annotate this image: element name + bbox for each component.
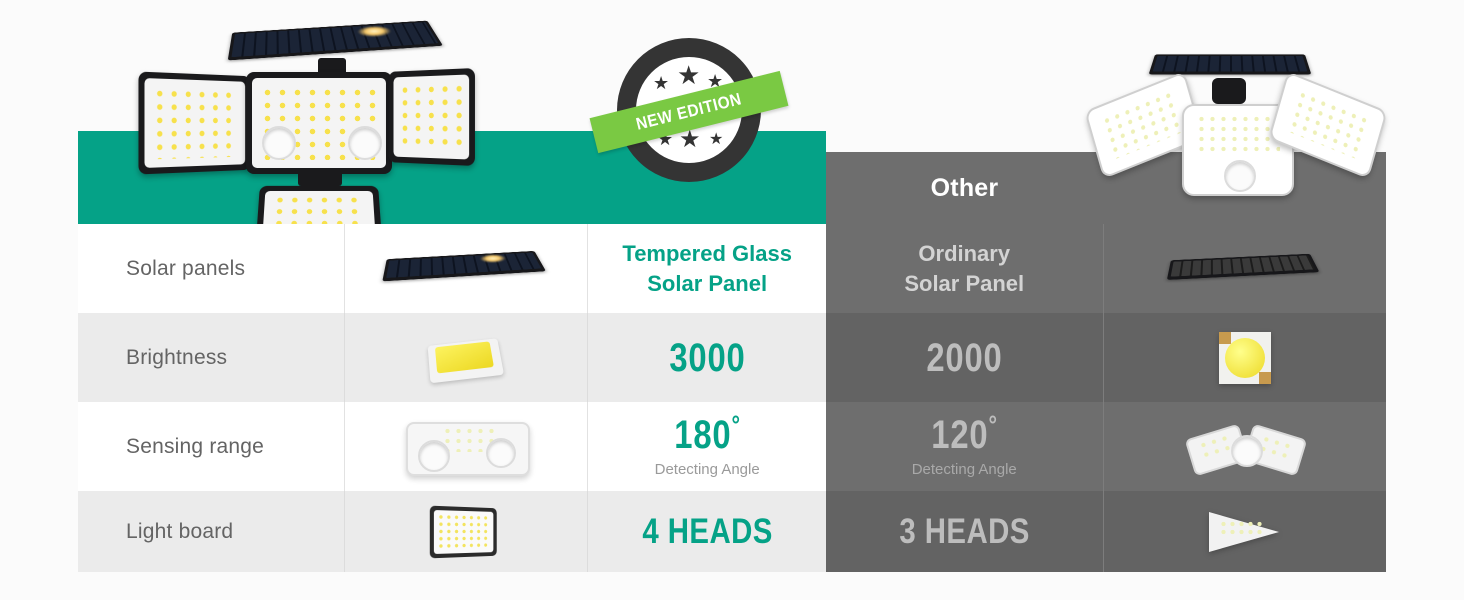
comparison-table: Solar panels Tempered Glass Solar Panel xyxy=(78,224,1386,572)
tempered-glass-solar-panel-icon xyxy=(386,240,546,298)
ours-value-cell: 180° Detecting Angle xyxy=(588,402,826,491)
row-label-cell: Solar panels xyxy=(78,224,345,313)
table-row: Solar panels Tempered Glass Solar Panel xyxy=(78,224,1386,313)
row-label: Sensing range xyxy=(126,435,264,459)
new-edition-badge: ★ ★ ★ ★ ★ ★ NEW EDITION xyxy=(617,38,761,182)
other-image-cell xyxy=(1104,491,1387,572)
star-icon: ★ xyxy=(653,74,669,92)
triangular-led-light-board-icon xyxy=(1205,506,1285,558)
ours-value-caption: Detecting Angle xyxy=(655,461,760,478)
other-value: Ordinary Solar Panel xyxy=(904,239,1024,298)
ours-image-cell xyxy=(345,402,589,491)
ours-image-cell xyxy=(345,313,589,402)
other-side: 2000 xyxy=(826,313,1386,402)
other-side: 120° Detecting Angle xyxy=(826,402,1386,491)
other-side: Ordinary Solar Panel xyxy=(826,224,1386,313)
ours-image-cell xyxy=(345,224,589,313)
ours-value: Tempered Glass Solar Panel xyxy=(622,239,792,298)
cob-led-chip-icon xyxy=(1217,330,1273,386)
row-label: Brightness xyxy=(126,346,227,370)
ordinary-solar-panel-icon xyxy=(1170,243,1320,295)
ours-side: Solar panels Tempered Glass Solar Panel xyxy=(78,224,826,313)
ours-value-cell: 4 HEADS xyxy=(588,491,826,572)
degree-symbol: ° xyxy=(731,410,740,440)
other-value: 120° xyxy=(931,415,998,455)
other-value-cell: 120° Detecting Angle xyxy=(826,402,1104,491)
large-led-light-board-icon xyxy=(429,503,503,561)
ours-side: Light board 4 HEADS xyxy=(78,491,826,572)
table-row: Sensing range 180° Detecting Angle xyxy=(78,402,1386,491)
other-value-cell: 3 HEADS xyxy=(826,491,1104,572)
ours-value-cell: Tempered Glass Solar Panel xyxy=(588,224,826,313)
row-label-cell: Brightness xyxy=(78,313,345,402)
other-value: 2000 xyxy=(926,338,1002,378)
ours-side: Brightness 3000 xyxy=(78,313,826,402)
table-row: Light board 4 HEADS 3 HEADS xyxy=(78,491,1386,572)
other-value-cell: Ordinary Solar Panel xyxy=(826,224,1104,313)
comparison-infographic: Other xyxy=(0,0,1464,600)
other-product-image xyxy=(1078,34,1396,216)
table-row: Brightness 3000 2000 xyxy=(78,313,1386,402)
other-header-title: Other xyxy=(826,152,1103,224)
ours-value: 4 HEADS xyxy=(642,514,772,549)
other-image-cell xyxy=(1104,402,1387,491)
ours-value: 3000 xyxy=(669,338,745,378)
other-value-cell: 2000 xyxy=(826,313,1104,402)
row-label-cell: Sensing range xyxy=(78,402,345,491)
star-icon: ★ xyxy=(709,132,723,148)
row-label: Light board xyxy=(126,520,233,544)
degree-symbol: ° xyxy=(988,410,997,440)
ours-value-cell: 3000 xyxy=(588,313,826,402)
ours-product-image xyxy=(132,2,548,240)
other-image-cell xyxy=(1104,313,1387,402)
row-label: Solar panels xyxy=(126,257,245,281)
narrow-angle-sensor-head-icon xyxy=(1189,421,1301,473)
other-value: 3 HEADS xyxy=(899,514,1029,549)
ours-side: Sensing range 180° Detecting Angle xyxy=(78,402,826,491)
other-image-cell xyxy=(1104,224,1387,313)
wide-angle-sensor-head-icon xyxy=(402,416,530,478)
row-label-cell: Light board xyxy=(78,491,345,572)
smd-led-chip-icon xyxy=(429,332,503,384)
ours-image-cell xyxy=(345,491,589,572)
star-icon: ★ xyxy=(677,62,700,88)
other-value-caption: Detecting Angle xyxy=(912,461,1017,478)
ours-value: 180° xyxy=(674,415,741,455)
other-side: 3 HEADS xyxy=(826,491,1386,572)
